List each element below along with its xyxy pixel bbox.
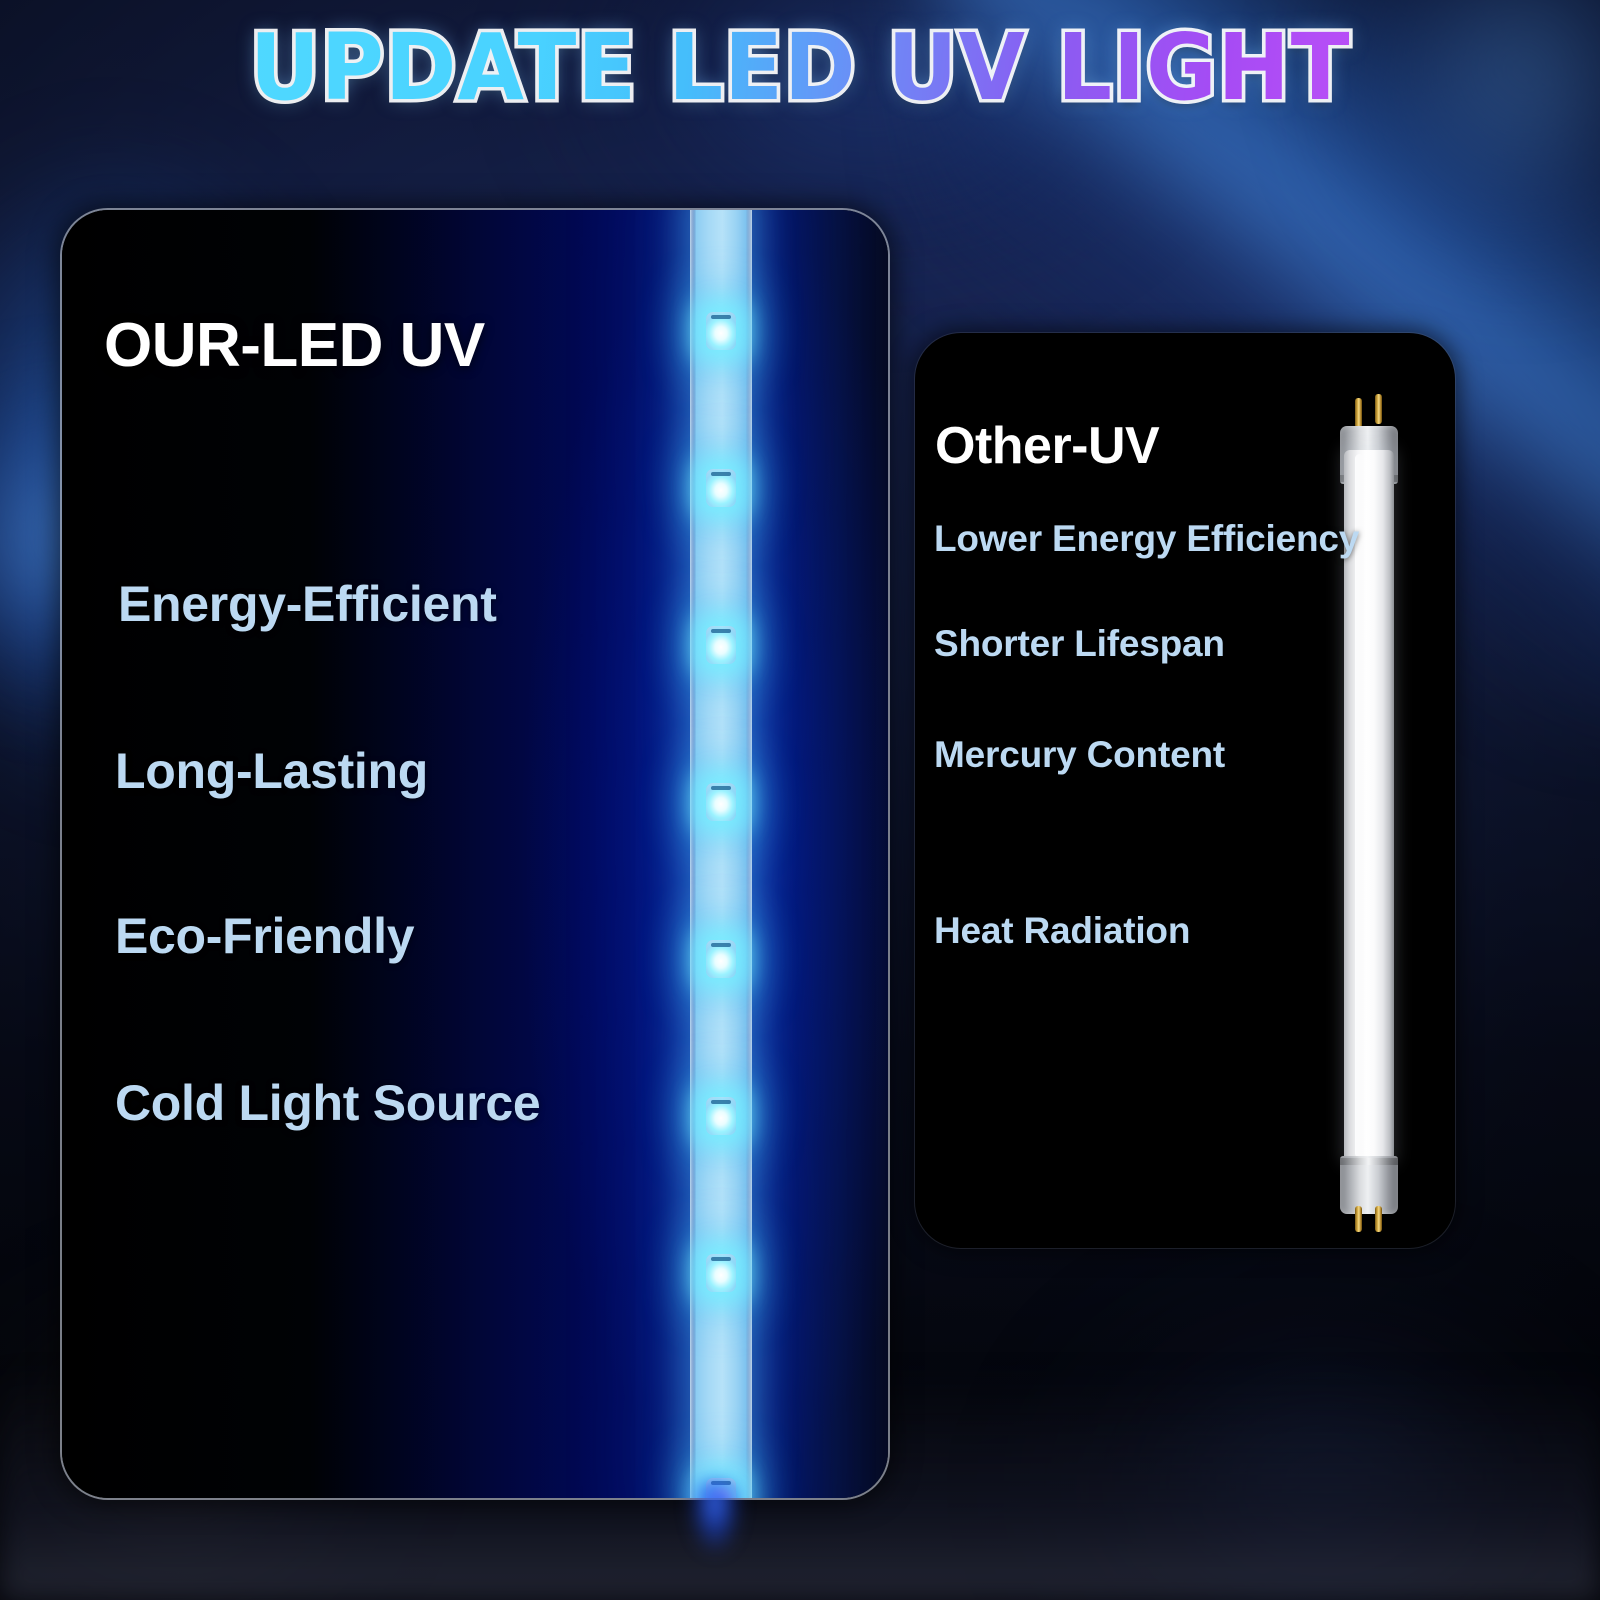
page-title-gradient: UPDATE LED UV LIGHT bbox=[250, 14, 1351, 121]
led-strip-outside-glow bbox=[660, 1480, 770, 1600]
feature-item-long-lasting: Long-Lasting bbox=[115, 742, 428, 800]
feature-item-cold-light-source: Cold Light Source bbox=[115, 1074, 540, 1132]
con-item-mercury-content: Mercury Content bbox=[934, 734, 1225, 776]
led-chip bbox=[706, 469, 736, 507]
tube-pin-bottom-right bbox=[1375, 1206, 1382, 1232]
page-title: UPDATE LED UV LIGHT UPDATE LED UV LIGHT bbox=[0, 14, 1600, 122]
infographic-canvas: UPDATE LED UV LIGHT UPDATE LED UV LIGHT … bbox=[0, 0, 1600, 1600]
led-chip bbox=[706, 312, 736, 350]
feature-item-energy-efficient: Energy-Efficient bbox=[118, 575, 497, 633]
con-item-heat-radiation: Heat Radiation bbox=[934, 910, 1190, 952]
led-chip bbox=[706, 626, 736, 664]
our-led-uv-card[interactable] bbox=[62, 210, 888, 1498]
led-chip bbox=[706, 940, 736, 978]
led-chip bbox=[706, 1254, 736, 1292]
led-chip bbox=[706, 783, 736, 821]
tube-cap-bottom bbox=[1340, 1156, 1398, 1214]
tube-pin-top-right bbox=[1375, 394, 1382, 424]
page-title-text: UPDATE LED UV LIGHT UPDATE LED UV LIGHT bbox=[250, 22, 1351, 114]
con-item-lower-energy-efficiency: Lower Energy Efficiency bbox=[934, 518, 1359, 560]
fluorescent-tube bbox=[1338, 390, 1400, 1220]
tube-pin-bottom-left bbox=[1355, 1206, 1362, 1232]
led-strip bbox=[690, 210, 752, 1498]
other-uv-heading: Other-UV bbox=[935, 416, 1159, 476]
con-item-shorter-lifespan: Shorter Lifespan bbox=[934, 623, 1225, 665]
card-inner-blue-glow bbox=[62, 210, 888, 1498]
feature-item-eco-friendly: Eco-Friendly bbox=[115, 907, 414, 965]
tube-pin-top-left bbox=[1355, 398, 1362, 428]
led-strip-right-edge bbox=[746, 210, 752, 1498]
led-strip-left-edge bbox=[690, 210, 695, 1498]
our-led-uv-heading: OUR-LED UV bbox=[104, 310, 485, 381]
led-chip bbox=[706, 1097, 736, 1135]
